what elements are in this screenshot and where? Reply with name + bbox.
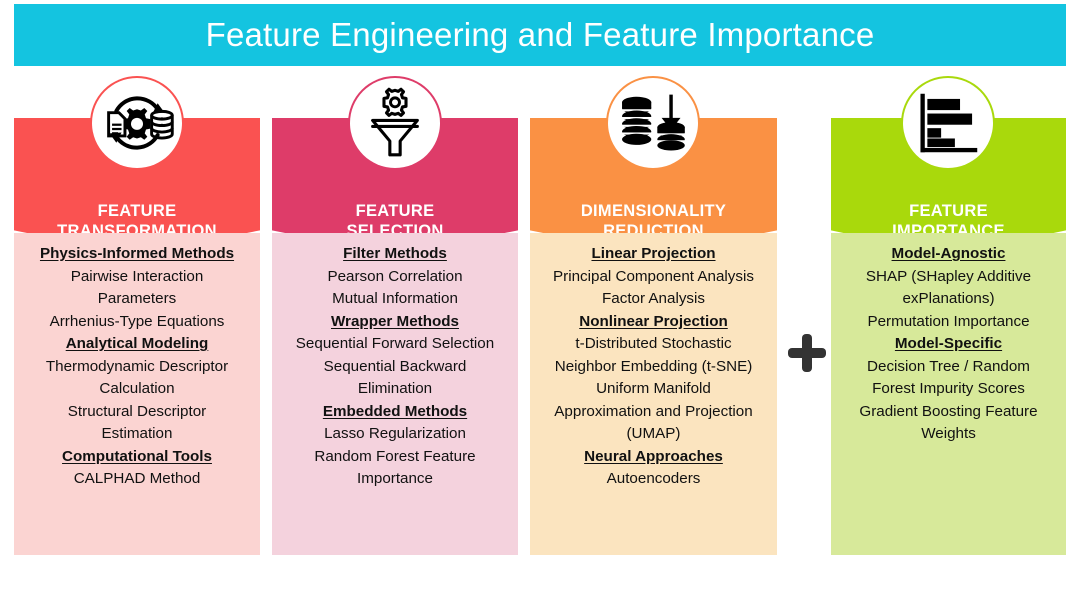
- document-gear-database-cycle-icon: [94, 80, 180, 166]
- entry-item: CALPHAD Method: [18, 468, 256, 491]
- entry-item: exPlanations): [835, 288, 1062, 311]
- entry-item: Structural Descriptor: [18, 401, 256, 424]
- column-dimensionality-reduction: DIMENSIONALITY REDUCTION Linear Projecti…: [530, 118, 777, 555]
- icon-circle-feature-selection: [350, 78, 440, 168]
- entry-item: Parameters: [18, 288, 256, 311]
- column-feature-importance: FEATURE IMPORTANCE Model-AgnosticSHAP (S…: [831, 118, 1066, 555]
- entry-item: Neighbor Embedding (t-SNE): [534, 356, 773, 379]
- entry-item: Weights: [835, 423, 1062, 446]
- column-body-dimensionality-reduction: Linear ProjectionPrincipal Component Ana…: [530, 233, 777, 555]
- entry-item: Elimination: [276, 378, 514, 401]
- entry-item: Arrhenius-Type Equations: [18, 311, 256, 334]
- entry-item: Approximation and Projection: [534, 401, 773, 424]
- plus-separator: [784, 330, 830, 376]
- entry-group-heading: Analytical Modeling: [18, 333, 256, 356]
- infographic-canvas: Feature Engineering and Feature Importan…: [0, 0, 1080, 595]
- entry-item: Factor Analysis: [534, 288, 773, 311]
- entry-group-heading: Embedded Methods: [276, 401, 514, 424]
- column-feature-transformation: FEATURE TRANSFORMATION Physics-Informed …: [14, 118, 260, 555]
- disk-stack-reduction-arrow-icon: [610, 80, 696, 166]
- entry-item: Gradient Boosting Feature: [835, 401, 1062, 424]
- entry-group-heading: Nonlinear Projection: [534, 311, 773, 334]
- icon-circle-feature-importance: [903, 78, 993, 168]
- entry-item: Mutual Information: [276, 288, 514, 311]
- entry-item: Decision Tree / Random: [835, 356, 1062, 379]
- entry-item: t-Distributed Stochastic: [534, 333, 773, 356]
- column-feature-selection: FEATURE SELECTION Filter MethodsPearson …: [272, 118, 518, 555]
- entry-group-heading: Filter Methods: [276, 243, 514, 266]
- entry-item: Autoencoders: [534, 468, 773, 491]
- entry-group-heading: Neural Approaches: [534, 446, 773, 469]
- entry-item: Uniform Manifold: [534, 378, 773, 401]
- icon-circle-feature-transformation: [92, 78, 182, 168]
- entry-item: Random Forest Feature: [276, 446, 514, 469]
- entry-item: Lasso Regularization: [276, 423, 514, 446]
- entry-item: Pearson Correlation: [276, 266, 514, 289]
- entry-group-heading: Physics-Informed Methods: [18, 243, 256, 266]
- column-body-feature-selection: Filter MethodsPearson CorrelationMutual …: [272, 233, 518, 555]
- entry-item: Permutation Importance: [835, 311, 1062, 334]
- entry-item: Thermodynamic Descriptor: [18, 356, 256, 379]
- icon-circle-dimensionality-reduction: [608, 78, 698, 168]
- entry-item: Sequential Backward: [276, 356, 514, 379]
- column-body-feature-transformation: Physics-Informed MethodsPairwise Interac…: [14, 233, 260, 555]
- entry-item: (UMAP): [534, 423, 773, 446]
- page-title-bar: Feature Engineering and Feature Importan…: [14, 4, 1066, 66]
- entry-item: Calculation: [18, 378, 256, 401]
- plus-sign-icon: [784, 330, 830, 376]
- entry-item: Sequential Forward Selection: [276, 333, 514, 356]
- entry-group-heading: Computational Tools: [18, 446, 256, 469]
- entry-item: Estimation: [18, 423, 256, 446]
- entry-group-heading: Model-Agnostic: [835, 243, 1062, 266]
- entry-item: SHAP (SHapley Additive: [835, 266, 1062, 289]
- gear-funnel-icon: [352, 80, 438, 166]
- column-body-feature-importance: Model-AgnosticSHAP (SHapley AdditiveexPl…: [831, 233, 1066, 555]
- entry-item: Pairwise Interaction: [18, 266, 256, 289]
- entry-group-heading: Model-Specific: [835, 333, 1062, 356]
- entry-group-heading: Wrapper Methods: [276, 311, 514, 334]
- page-title: Feature Engineering and Feature Importan…: [206, 16, 875, 54]
- entry-item: Forest Impurity Scores: [835, 378, 1062, 401]
- entry-group-heading: Linear Projection: [534, 243, 773, 266]
- entry-item: Principal Component Analysis: [534, 266, 773, 289]
- horizontal-bar-chart-icon: [905, 80, 991, 166]
- entry-item: Importance: [276, 468, 514, 491]
